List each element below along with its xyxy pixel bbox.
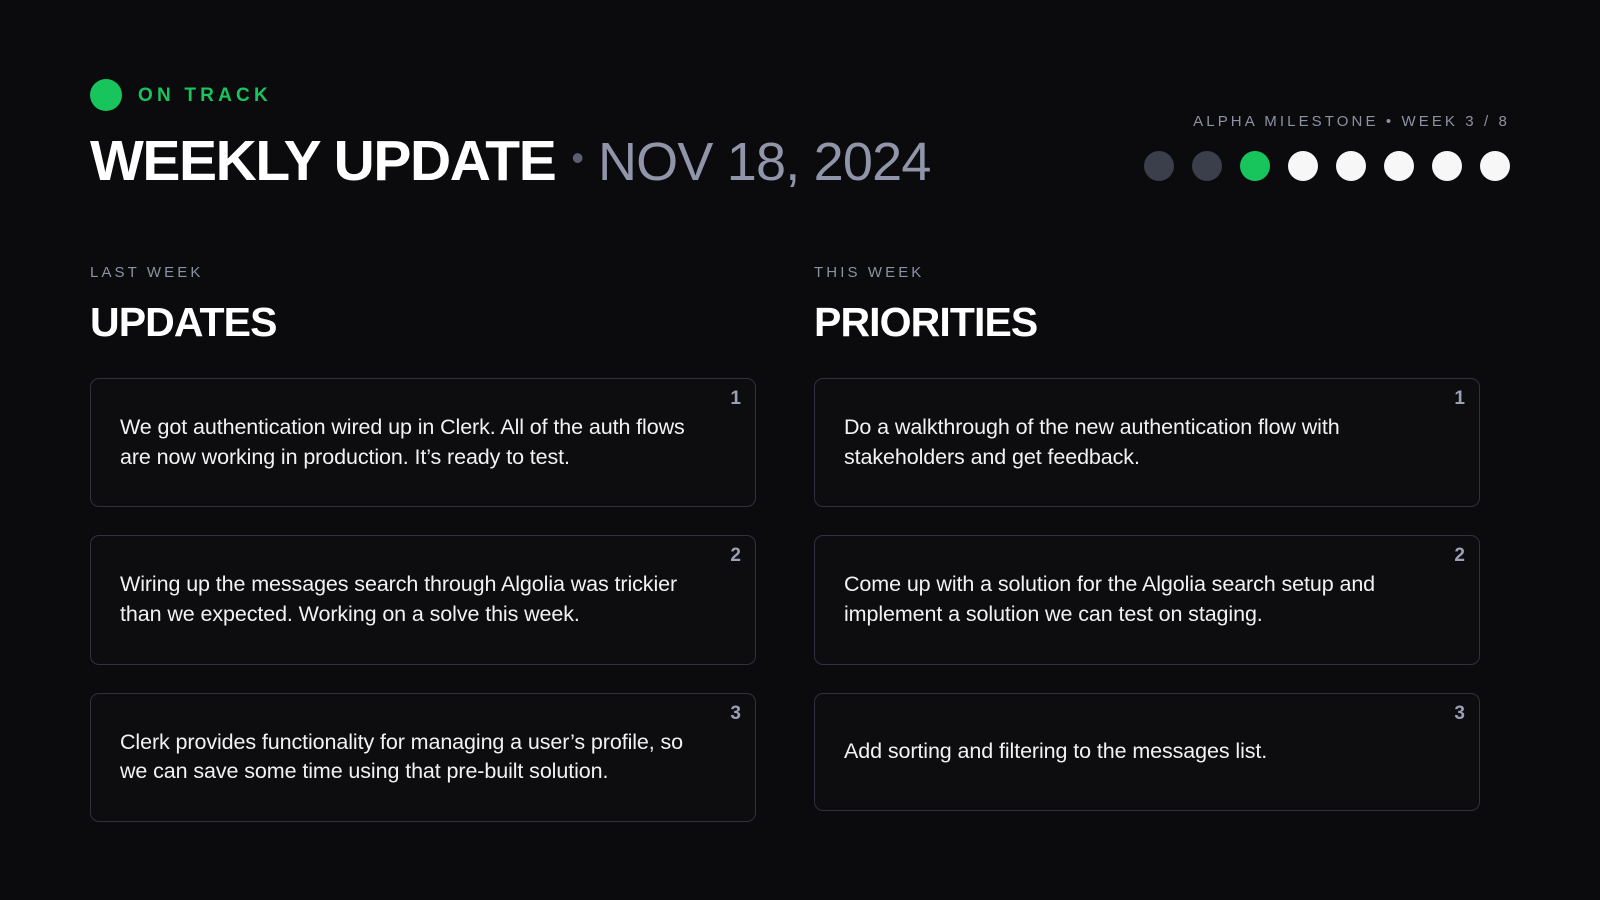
column-eyebrow-last-week: LAST WEEK (90, 265, 756, 280)
update-card[interactable]: 3 Clerk provides functionality for manag… (90, 693, 756, 822)
card-text: Do a walkthrough of the new authenticati… (844, 413, 1425, 472)
weekly-update-slide: ON TRACK WEEKLY UPDATE • NOV 18, 2024 AL… (0, 0, 1600, 900)
card-number-badge: 3 (730, 704, 741, 723)
card-number-badge: 2 (1454, 546, 1465, 565)
card-text: Add sorting and filtering to the message… (844, 737, 1267, 767)
milestone-dot-list (1144, 151, 1510, 181)
priority-card[interactable]: 3 Add sorting and filtering to the messa… (814, 693, 1480, 811)
slide-header: ON TRACK WEEKLY UPDATE • NOV 18, 2024 AL… (90, 78, 1510, 208)
milestone-dot-week-4[interactable] (1288, 151, 1318, 181)
card-text: Clerk provides functionality for managin… (120, 728, 701, 787)
card-text: Wiring up the messages search through Al… (120, 570, 701, 629)
column-heading-updates: UPDATES (90, 300, 756, 345)
milestone-dot-week-1[interactable] (1144, 151, 1174, 181)
card-number-badge: 1 (730, 389, 741, 408)
column-updates: LAST WEEK UPDATES 1 We got authenticatio… (90, 265, 756, 822)
card-text: Come up with a solution for the Algolia … (844, 570, 1425, 629)
status-label: ON TRACK (138, 86, 272, 105)
milestone-tracker: ALPHA MILESTONE • WEEK 3 / 8 (1144, 114, 1510, 181)
update-card[interactable]: 2 Wiring up the messages search through … (90, 535, 756, 664)
milestone-dot-week-5[interactable] (1336, 151, 1366, 181)
status-indicator-dot (90, 79, 122, 111)
updates-card-list: 1 We got authentication wired up in Cler… (90, 378, 756, 822)
status-row: ON TRACK (90, 78, 1510, 112)
milestone-dot-week-3[interactable] (1240, 151, 1270, 181)
title-separator-dot: • (571, 140, 584, 176)
column-heading-priorities: PRIORITIES (814, 300, 1480, 345)
priorities-card-list: 1 Do a walkthrough of the new authentica… (814, 378, 1480, 811)
update-card[interactable]: 1 We got authentication wired up in Cler… (90, 378, 756, 507)
milestone-dot-week-2[interactable] (1192, 151, 1222, 181)
milestone-dot-week-8[interactable] (1480, 151, 1510, 181)
milestone-label: ALPHA MILESTONE • WEEK 3 / 8 (1144, 114, 1510, 129)
card-number-badge: 3 (1454, 704, 1465, 723)
milestone-dot-week-7[interactable] (1432, 151, 1462, 181)
page-title-date: NOV 18, 2024 (598, 134, 931, 191)
card-number-badge: 1 (1454, 389, 1465, 408)
content-columns: LAST WEEK UPDATES 1 We got authenticatio… (90, 265, 1510, 822)
milestone-dot-week-6[interactable] (1384, 151, 1414, 181)
card-number-badge: 2 (730, 546, 741, 565)
page-title-main: WEEKLY UPDATE (90, 132, 555, 192)
column-eyebrow-this-week: THIS WEEK (814, 265, 1480, 280)
priority-card[interactable]: 1 Do a walkthrough of the new authentica… (814, 378, 1480, 507)
column-priorities: THIS WEEK PRIORITIES 1 Do a walkthrough … (814, 265, 1480, 822)
card-text: We got authentication wired up in Clerk.… (120, 413, 701, 472)
priority-card[interactable]: 2 Come up with a solution for the Algoli… (814, 535, 1480, 664)
